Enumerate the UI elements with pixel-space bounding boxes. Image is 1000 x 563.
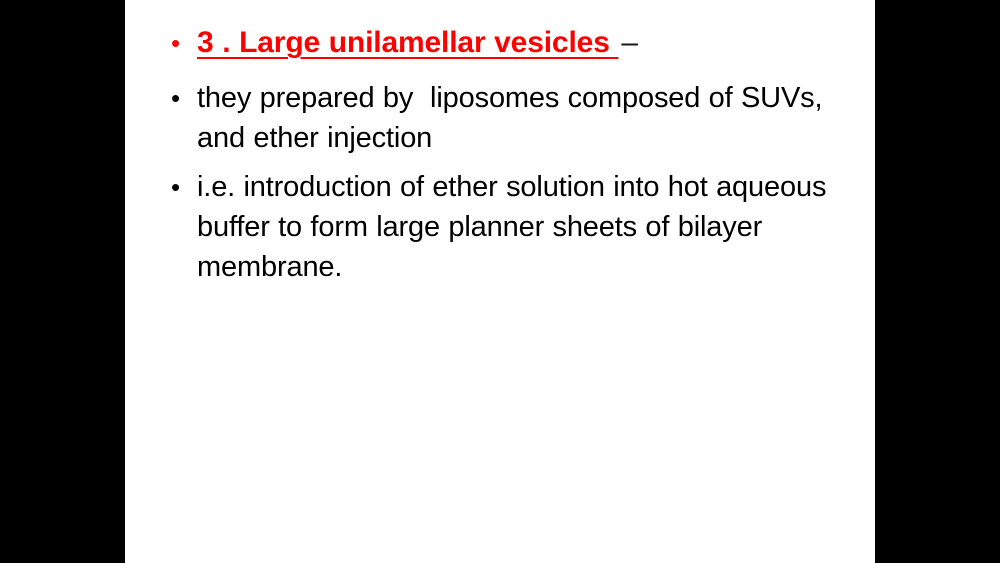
bullet-marker-icon: •: [171, 78, 193, 118]
bullet-body-text: they prepared by liposomes composed of S…: [197, 82, 831, 154]
bullet-item-explanation: •i.e. introduction of ether solution int…: [165, 167, 855, 287]
bullet-item-preparation: •they prepared by liposomes composed of …: [165, 78, 855, 158]
bullet-body-text: i.e. introduction of ether solution into…: [197, 171, 835, 283]
slide-viewer: •3 . Large unilamellar vesicles – •they …: [0, 0, 1000, 563]
bullet-heading-dash: –: [618, 26, 638, 59]
bullet-item-heading: •3 . Large unilamellar vesicles –: [165, 22, 855, 64]
bullet-marker-icon: •: [171, 22, 193, 64]
bullet-marker-icon: •: [171, 167, 193, 207]
slide-body-placeholder: •3 . Large unilamellar vesicles – •they …: [165, 22, 855, 287]
slide-canvas: •3 . Large unilamellar vesicles – •they …: [125, 0, 875, 563]
bullet-heading-text: 3 . Large unilamellar vesicles: [197, 26, 618, 59]
